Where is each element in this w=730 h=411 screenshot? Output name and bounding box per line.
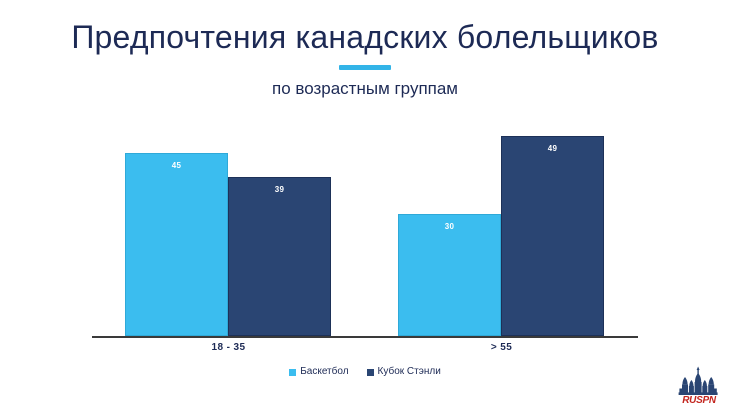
- chart-header: Предпочтения канадских болельщиков по во…: [0, 18, 730, 99]
- bar-basketball-over-55[interactable]: 30: [398, 214, 501, 336]
- legend-item-basketball[interactable]: Баскетбол: [289, 366, 348, 378]
- bar-fill: [228, 177, 331, 336]
- bar-basketball-18-35[interactable]: 45: [125, 153, 228, 336]
- bar-stanley-cup-over-55[interactable]: 49: [501, 136, 604, 336]
- bar-fill: [398, 214, 501, 336]
- bar-stanley-cup-18-35[interactable]: 39: [228, 177, 331, 336]
- bar-value-label: 39: [228, 185, 331, 195]
- kremlin-building-icon: [676, 366, 722, 396]
- logo-wordmark: RUSPN: [676, 395, 722, 406]
- bar-value-label: 30: [398, 222, 501, 232]
- legend-swatch-icon: [367, 369, 374, 376]
- legend-swatch-icon: [289, 369, 296, 376]
- bar-fill: [501, 136, 604, 336]
- legend-label: Кубок Стэнли: [378, 366, 441, 378]
- x-axis-tick-labels: 18 - 35 > 55: [92, 342, 638, 360]
- chart-plot-area: 45 39 30 49: [92, 112, 638, 338]
- bar-group-1: 30 49: [398, 112, 605, 336]
- chart-legend: Баскетбол Кубок Стэнли: [0, 366, 730, 378]
- bar-group-0: 45 39: [125, 112, 332, 336]
- x-axis-tick-label-0: 18 - 35: [125, 342, 332, 353]
- legend-item-stanley-cup[interactable]: Кубок Стэнли: [367, 366, 441, 378]
- title-accent-divider: [339, 65, 391, 70]
- bar-value-label: 49: [501, 144, 604, 154]
- x-axis-line: [92, 336, 638, 338]
- ruspn-logo: RUSPN: [676, 366, 722, 406]
- bar-value-label: 45: [125, 161, 228, 171]
- page-subtitle: по возрастным группам: [0, 78, 730, 99]
- x-axis-tick-label-1: > 55: [398, 342, 605, 353]
- slide: Предпочтения канадских болельщиков по во…: [0, 0, 730, 411]
- legend-label: Баскетбол: [300, 366, 348, 378]
- bar-fill: [125, 153, 228, 336]
- page-title: Предпочтения канадских болельщиков: [0, 18, 730, 56]
